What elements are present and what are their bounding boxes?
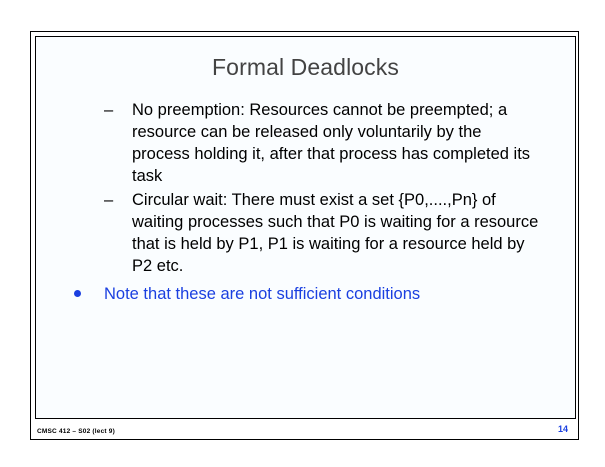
dash-bullet-icon: – (104, 100, 113, 122)
list-item-text: No preemption: Resources cannot be preem… (132, 101, 530, 185)
slide-outer-border: Formal Deadlocks – No preemption: Resour… (30, 31, 579, 440)
list-item: – No preemption: Resources cannot be pre… (36, 100, 577, 188)
list-item: – Circular wait: There must exist a set … (36, 190, 577, 278)
slide-body-list: – No preemption: Resources cannot be pre… (36, 100, 577, 305)
list-item-text: Note that these are not sufficient condi… (104, 285, 420, 303)
slide-inner-border: Formal Deadlocks – No preemption: Resour… (35, 36, 576, 419)
bullet-dot-icon (74, 290, 81, 297)
page-number: 14 (558, 424, 568, 434)
page-title: Formal Deadlocks (36, 54, 575, 81)
slide-footer: CMSC 412 – S02 (lect 9) (37, 428, 115, 435)
list-item-text: Circular wait: There must exist a set {P… (132, 191, 538, 275)
dash-bullet-icon: – (104, 190, 113, 212)
list-item-highlighted: Note that these are not sufficient condi… (36, 284, 577, 306)
